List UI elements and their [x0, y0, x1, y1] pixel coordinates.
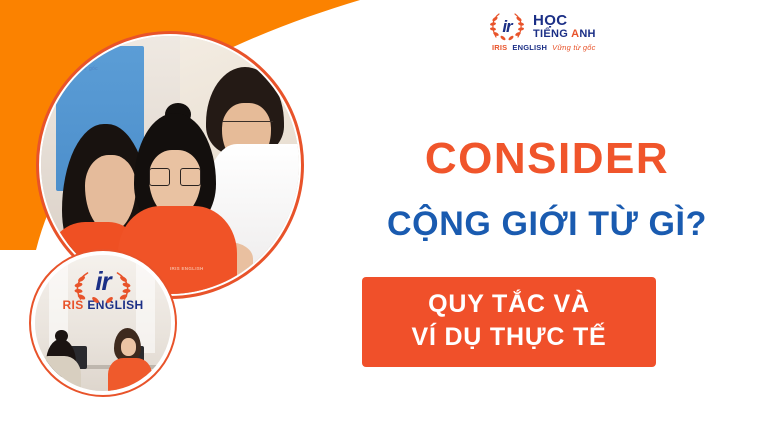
page-subtitle: CỘNG GIỚI TỪ GÌ?	[342, 207, 752, 243]
person-right-face	[121, 338, 136, 356]
brand-nh-text: NH	[579, 28, 596, 40]
person-left-body	[35, 356, 81, 391]
wall-logo-watermark: ANH Vững từ gốc	[67, 57, 134, 72]
laurel-wreath-icon	[68, 270, 138, 304]
wall-logo-sub: Vững từ gốc	[67, 67, 134, 73]
banner-canvas: ANH Vững từ gốc ọc IRIS ENGLISH	[0, 0, 768, 433]
tagline-english: ENGLISH	[512, 44, 547, 52]
wall-logo-text: ANH	[67, 56, 87, 66]
cta-line-1: QUY TẮC VÀ	[362, 288, 656, 321]
student-center-glasses	[149, 168, 201, 186]
brand-logo: ir HỌC TIẾNG ANH	[487, 10, 596, 44]
tagline-iris: IRIS	[492, 44, 507, 52]
page-title: CONSIDER	[342, 137, 752, 181]
brand-mark-letters: ir	[502, 18, 511, 35]
tagline-vietnamese: Vững từ gốc	[552, 44, 595, 52]
brand-line-hoc: HỌC	[533, 13, 596, 28]
person-right-body	[108, 358, 152, 391]
brand-line-tienganh: TIẾNG ANH	[533, 28, 596, 42]
laurel-wreath-logo-icon: ir	[487, 10, 527, 44]
secondary-photo-circle: ir RIS ENGLISH	[29, 249, 177, 397]
student-right-glasses	[222, 121, 274, 137]
brand-tieng-text: TIẾNG	[533, 28, 571, 40]
iris-english-wall-logo: ir RIS ENGLISH	[45, 270, 162, 311]
secondary-photo-image: ir RIS ENGLISH	[35, 255, 171, 391]
brand-wordmark: HỌC TIẾNG ANH	[533, 13, 596, 42]
brand-tagline: IRIS ENGLISH Vững từ gốc	[492, 44, 596, 52]
cta-line-2: VÍ DỤ THỰC TẾ	[362, 321, 656, 354]
cta-banner: QUY TẮC VÀ VÍ DỤ THỰC TẾ	[362, 277, 656, 367]
